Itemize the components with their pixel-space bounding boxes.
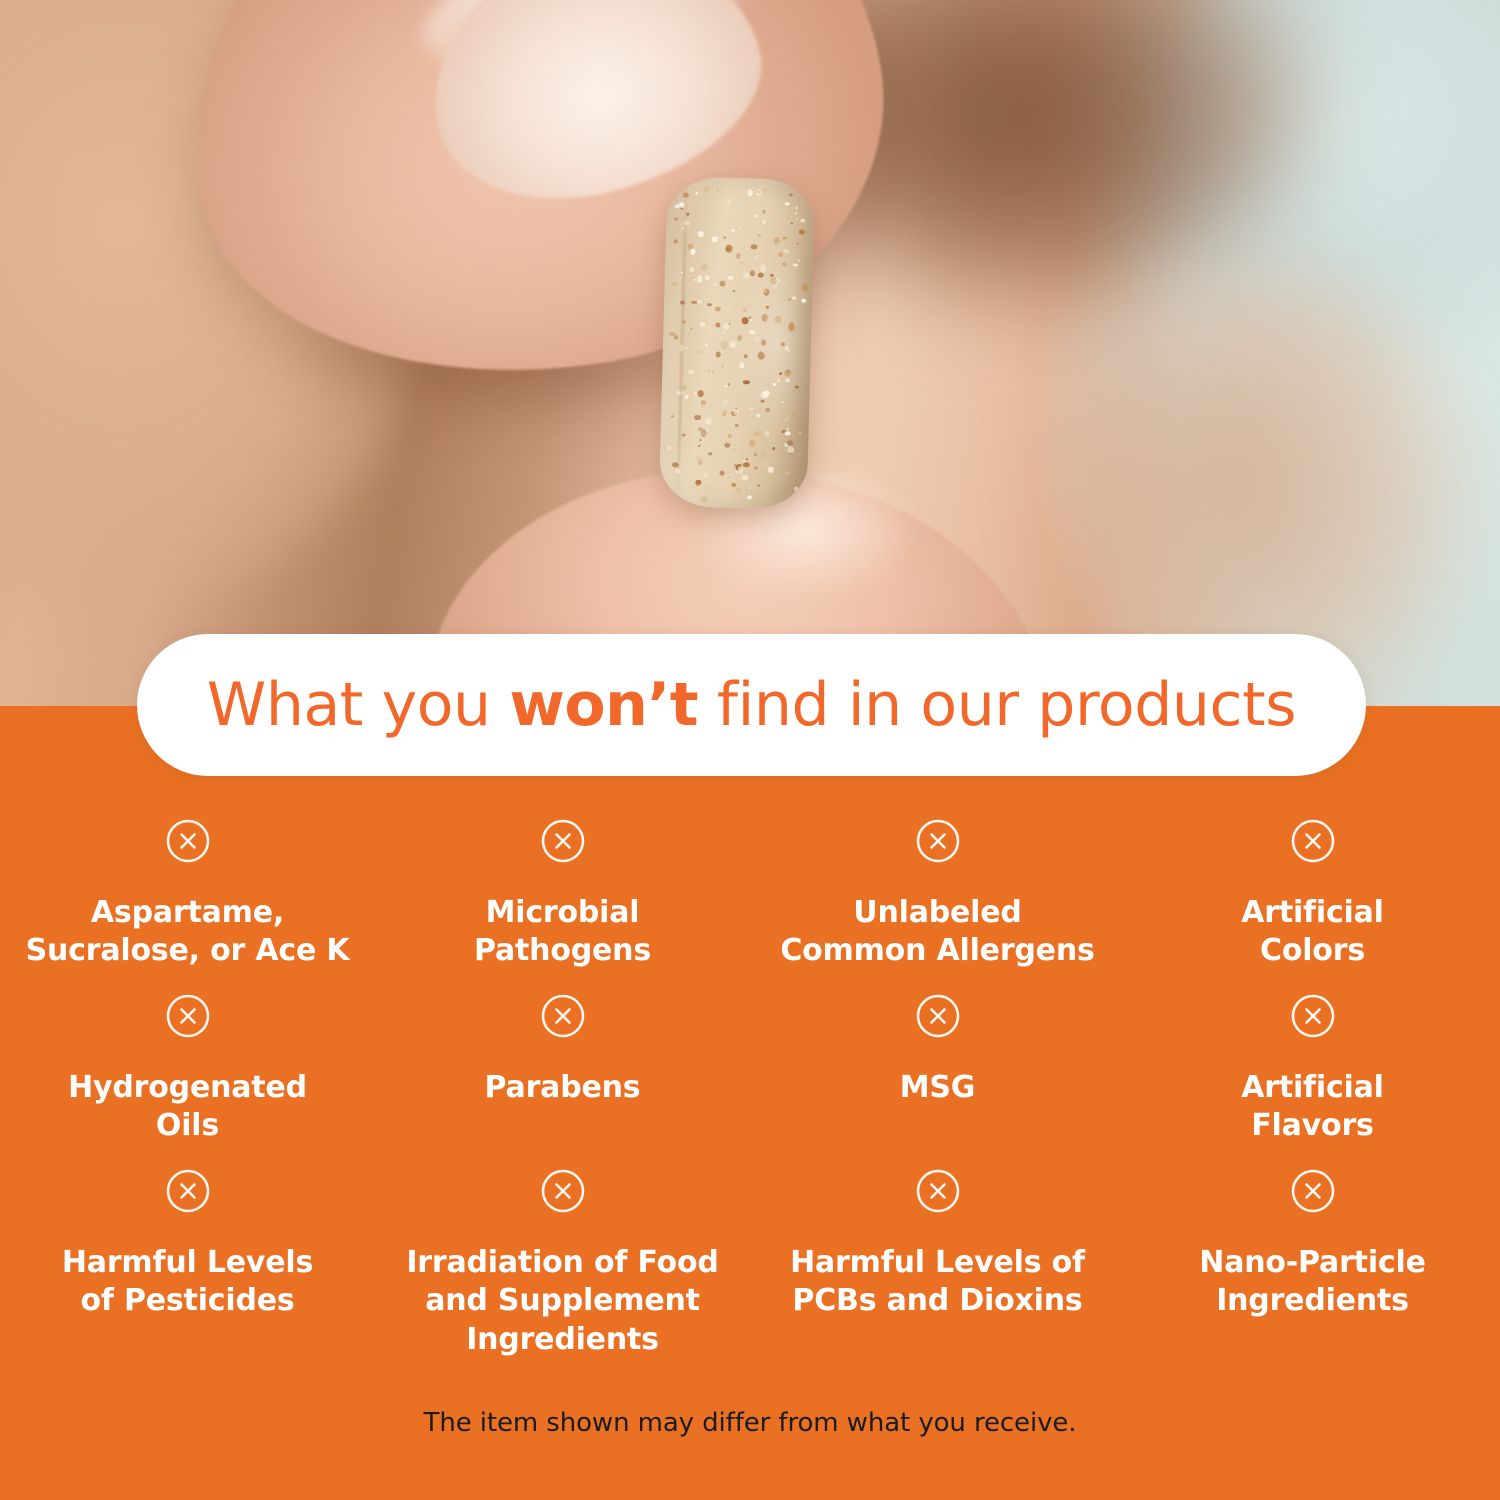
tablet-speckle [716, 431, 721, 435]
tablet-speckle [698, 460, 703, 465]
tablet-speckle [744, 354, 748, 359]
tablet-speckle [789, 453, 792, 455]
tablet-speckle [762, 210, 765, 214]
tablet-speckle [722, 400, 728, 405]
tablet-speckle [713, 283, 718, 286]
tablet-speckle [671, 415, 674, 417]
tablet-speckle [749, 331, 755, 335]
tablet-speckle [765, 408, 770, 413]
excluded-item-label: Artificial Colors [1241, 894, 1384, 971]
tablet-speckle [736, 488, 741, 493]
tablet-speckle [801, 284, 808, 293]
tablet-speckle [779, 373, 782, 375]
tablet-speckle [716, 378, 719, 380]
tablet-speckle [699, 262, 702, 266]
tablet-speckle [795, 386, 799, 389]
excluded-item-label: Harmful Levels of PCBs and Dioxins [790, 1244, 1085, 1321]
tablet-speckle [721, 341, 728, 350]
tablet-speckle [748, 486, 752, 489]
tablet-speckle [704, 472, 709, 477]
circle-x-icon [540, 993, 586, 1039]
excluded-item: Artificial Flavors [1125, 993, 1500, 1168]
tablet-speckle [773, 383, 776, 386]
tablet-speckle [762, 234, 766, 239]
tablet-speckle [796, 243, 798, 244]
tablet-speckle [754, 467, 758, 470]
tablet-speckle [679, 369, 684, 375]
tablet-speckle [792, 297, 796, 300]
tablet-speckle [768, 467, 774, 474]
tablet-speckle [750, 407, 754, 410]
title-emphasis: won’t [509, 670, 698, 740]
excluded-item: Parabens [375, 993, 750, 1168]
tablet-speckle [733, 290, 736, 292]
tablet-speckle [737, 466, 743, 473]
tablet-speckle [730, 342, 735, 346]
tablet-speckle [795, 207, 797, 210]
tablet-speckle [787, 428, 790, 431]
tablet-speckle [761, 452, 765, 457]
tablet-speckle [705, 319, 710, 325]
tablet-speckle [722, 365, 724, 367]
tablet-speckle [760, 399, 764, 402]
tablet-speckle [682, 192, 689, 197]
tablet-speckle [735, 424, 739, 428]
excluded-item: Nano-Particle Ingredients [1125, 1168, 1500, 1368]
tablet-speckle [713, 371, 715, 373]
excluded-item-label: Nano-Particle Ingredients [1199, 1244, 1425, 1321]
tablet-speckle [688, 370, 695, 374]
excluded-item-label: Microbial Pathogens [474, 894, 651, 971]
excluded-item: Aspartame, Sucralose, or Ace K [0, 818, 375, 993]
tablet-speckle [790, 222, 792, 225]
tablet-speckle [693, 487, 695, 489]
tablet-speckle [731, 304, 738, 309]
excluded-item: Microbial Pathogens [375, 818, 750, 993]
tablet-speckle [731, 281, 734, 283]
excluded-ingredients-grid: Aspartame, Sucralose, or Ace KMicrobial … [0, 818, 1500, 1368]
tablet-speckle [672, 463, 679, 468]
tablet-speckle [762, 205, 764, 206]
tablet-speckle [791, 413, 794, 415]
tablet-speckle [701, 400, 707, 405]
tablet-speckle [743, 308, 747, 312]
tablet-speckle [743, 272, 750, 278]
title-prefix: What you [207, 670, 509, 740]
tablet-speckle [731, 483, 737, 487]
tablet-speckle [706, 428, 709, 431]
tablet-speckle [683, 221, 690, 226]
tablet-speckle [785, 431, 791, 436]
tablet-speckle [723, 322, 730, 330]
tablet-speckle [785, 378, 790, 382]
tablet-speckle [765, 305, 769, 309]
tablet-speckle [708, 452, 712, 455]
tablet-speckle [686, 347, 688, 349]
tablet-speckle [743, 380, 750, 385]
tablet-speckle [705, 344, 708, 346]
tablet-speckle [705, 419, 712, 425]
excluded-item-label: Hydrogenated Oils [68, 1069, 307, 1146]
tablet-speckle [749, 318, 752, 321]
tablet-speckle [772, 447, 775, 450]
tablet-speckle [731, 229, 735, 233]
tablet-speckle [735, 408, 738, 410]
circle-x-icon [1290, 1168, 1336, 1214]
tablet-speckle [775, 316, 782, 324]
tablet-speckle [765, 431, 770, 437]
tablet-speckle [696, 350, 700, 353]
excluded-item: Unlabeled Common Allergens [750, 818, 1125, 993]
tablet-speckle [796, 218, 798, 220]
tablet-speckle [727, 433, 732, 438]
page-title: What you won’t find in our products [207, 675, 1296, 735]
tablet-speckle [751, 443, 753, 445]
tablet-speckle [798, 250, 800, 252]
tablet-speckle [786, 440, 793, 445]
tablet-speckle [783, 237, 787, 240]
tablet-speckle [697, 274, 704, 282]
tablet-speckle [693, 381, 696, 384]
tablet-speckle [680, 300, 685, 305]
circle-x-icon [1290, 993, 1336, 1039]
tablet-speckle [672, 283, 678, 287]
tablet-speckle [693, 279, 695, 281]
tablet-speckle [783, 243, 785, 245]
tablet-speckle [675, 198, 678, 201]
circle-x-icon [165, 1168, 211, 1214]
tablet-speckle [667, 446, 671, 450]
tablet-speckle [755, 189, 762, 197]
tablet-speckle [784, 249, 790, 253]
title-banner: What you won’t find in our products [137, 634, 1366, 776]
tablet-speckle [701, 406, 704, 408]
tablet-speckle [716, 352, 721, 358]
tablet-speckle [720, 337, 722, 339]
circle-x-icon [165, 993, 211, 1039]
tablet-speckle [751, 244, 758, 249]
tablet-speckle [727, 310, 729, 312]
tablet-speckle [676, 469, 681, 474]
tablet-speckle [752, 422, 756, 426]
excluded-item: Harmful Levels of PCBs and Dioxins [750, 1168, 1125, 1368]
tablet-speckle [720, 471, 725, 476]
circle-x-icon [915, 993, 961, 1039]
tablet-speckle [711, 237, 718, 242]
tablet-speckle [758, 234, 761, 237]
tablet-speckle [682, 384, 687, 390]
excluded-item-label: Unlabeled Common Allergens [780, 894, 1094, 971]
tablet-speckle [737, 335, 743, 341]
tablet-speckle [798, 230, 805, 235]
product-photo [0, 0, 1500, 706]
excluded-item: MSG [750, 993, 1125, 1168]
tablet-speckle [742, 317, 748, 325]
tablet-speckle [758, 273, 764, 278]
excluded-item: Hydrogenated Oils [0, 993, 375, 1168]
tablet-speckle [798, 260, 800, 262]
tablet-speckle [753, 212, 757, 216]
tablet-speckle [782, 262, 787, 267]
tablet-speckle [735, 266, 737, 267]
tablet-speckle [756, 414, 760, 417]
circle-x-icon [540, 818, 586, 864]
excluded-item-label: Parabens [485, 1069, 641, 1107]
tablet-speckle [762, 220, 766, 224]
tablet-speckle [795, 212, 797, 215]
tablet-speckle [701, 496, 708, 502]
tablet-speckle [698, 445, 700, 446]
circle-x-icon [540, 1168, 586, 1214]
tablet-speckle [698, 390, 704, 397]
tablet-speckle [785, 202, 790, 206]
tablet-speckle [762, 188, 767, 192]
tablet-speckle [681, 271, 683, 273]
tablet-speckle [784, 471, 789, 474]
tablet-speckle [693, 392, 697, 396]
tablet-speckle [707, 369, 710, 372]
tablet-speckle [727, 200, 730, 204]
tablet-speckle [719, 280, 726, 287]
tablet-speckle [695, 240, 697, 241]
tablet-speckle [678, 344, 685, 351]
tablet-speckle [694, 414, 701, 420]
tablet-speckle [801, 298, 806, 303]
tablet-speckle [796, 489, 800, 493]
tablet-speckle [758, 485, 761, 487]
tablet-speckle [670, 358, 672, 360]
tablet-speckle [762, 314, 768, 322]
tablet-speckle [754, 431, 761, 436]
tablet-speckle [733, 448, 735, 450]
tablet-speckle [707, 303, 712, 307]
tablet-speckle [699, 484, 701, 486]
tablet-speckle [702, 370, 707, 373]
excluded-item: Artificial Colors [1125, 818, 1500, 993]
tablet-speckle [698, 231, 705, 237]
tablet-speckle [760, 297, 764, 300]
tablet-speckle [789, 193, 793, 197]
tablet-speckle [681, 229, 683, 231]
tablet-speckle [753, 336, 760, 341]
excluded-item-label: Harmful Levels of Pesticides [62, 1244, 313, 1321]
circle-x-icon [915, 1168, 961, 1214]
tablet-speckle [689, 268, 694, 272]
tablet-speckle [763, 391, 770, 396]
tablet-speckle [781, 401, 784, 403]
tablet-speckle [743, 462, 750, 467]
tablet-speckle [747, 335, 753, 342]
tablet-speckle [723, 237, 725, 239]
tablet-speckle [739, 228, 741, 231]
tablet-speckle [681, 434, 686, 438]
tablet-speckle [727, 476, 729, 478]
tablet-speckle [777, 379, 780, 382]
tablet-speckle [697, 300, 702, 303]
tablet-speckle [696, 192, 698, 194]
tablet-speckle [739, 362, 744, 368]
tablet-speckle [747, 495, 752, 499]
product-claims-infographic: What you won’t find in our products Aspa… [0, 0, 1500, 1500]
tablet-speckle [760, 339, 766, 346]
tablet-speckle [798, 452, 801, 455]
tablet-speckle [724, 443, 730, 448]
tablet-speckle [728, 275, 734, 280]
tablet-speckle [704, 483, 710, 490]
supplement-tablet [659, 176, 816, 510]
tablet-speckle [753, 473, 755, 476]
tablet-speckle [705, 275, 710, 281]
circle-x-icon [1290, 818, 1336, 864]
tablet-speckle [798, 431, 802, 434]
tablet-speckle [715, 307, 721, 312]
tablet-speckle [699, 439, 702, 441]
title-suffix: find in our products [698, 670, 1296, 740]
tablet-speckle [741, 476, 748, 481]
tablet-speckle [754, 453, 757, 457]
tablet-speckle [788, 350, 790, 352]
tablet-speckle [780, 491, 782, 493]
tablet-speckle [723, 332, 725, 334]
tablet-speckle [722, 412, 727, 417]
tablet-speckle [750, 270, 755, 276]
tablet-speckle [684, 394, 688, 398]
excluded-item-label: Aspartame, Sucralose, or Ace K [26, 894, 350, 971]
tablet-speckle [770, 277, 777, 284]
tablet-speckle [762, 289, 767, 293]
tablet-speckle [682, 392, 684, 395]
tablet-speckle [773, 237, 779, 244]
tablet-speckle [736, 253, 741, 259]
tablet-speckle [759, 265, 765, 273]
tablet-speckle [739, 261, 744, 264]
tablet-speckle [788, 322, 795, 331]
disclaimer-text: The item shown may differ from what you … [0, 1408, 1500, 1438]
tablet-speckle [715, 322, 720, 327]
tablet-speckle [800, 218, 805, 222]
excluded-item: Harmful Levels of Pesticides [0, 1168, 375, 1368]
tablet-speckle [728, 382, 731, 385]
tablet-speckle [746, 458, 748, 460]
circle-x-icon [165, 818, 211, 864]
tablet-speckle [682, 321, 686, 324]
tablet-speckle [715, 188, 719, 192]
tablet-speckle [712, 393, 716, 396]
tablet-speckle [758, 352, 765, 360]
tablet-speckle [674, 217, 678, 220]
excluded-item-label: MSG [900, 1069, 975, 1107]
tablet-speckle [789, 298, 792, 300]
excluded-item-label: Irradiation of Food and Supplement Ingre… [406, 1244, 718, 1359]
excluded-item-label: Artificial Flavors [1241, 1069, 1384, 1146]
tablet-speckle [779, 252, 784, 258]
tablet-speckle [778, 404, 780, 406]
tablet-speckle [703, 186, 710, 192]
excluded-item: Irradiation of Food and Supplement Ingre… [375, 1168, 750, 1368]
tablet-speckle [691, 328, 693, 330]
tablet-speckle [686, 213, 689, 216]
tablet-speckle [673, 239, 677, 243]
circle-x-icon [915, 818, 961, 864]
tablet-speckle [786, 416, 790, 421]
tablet-speckle [754, 256, 758, 260]
